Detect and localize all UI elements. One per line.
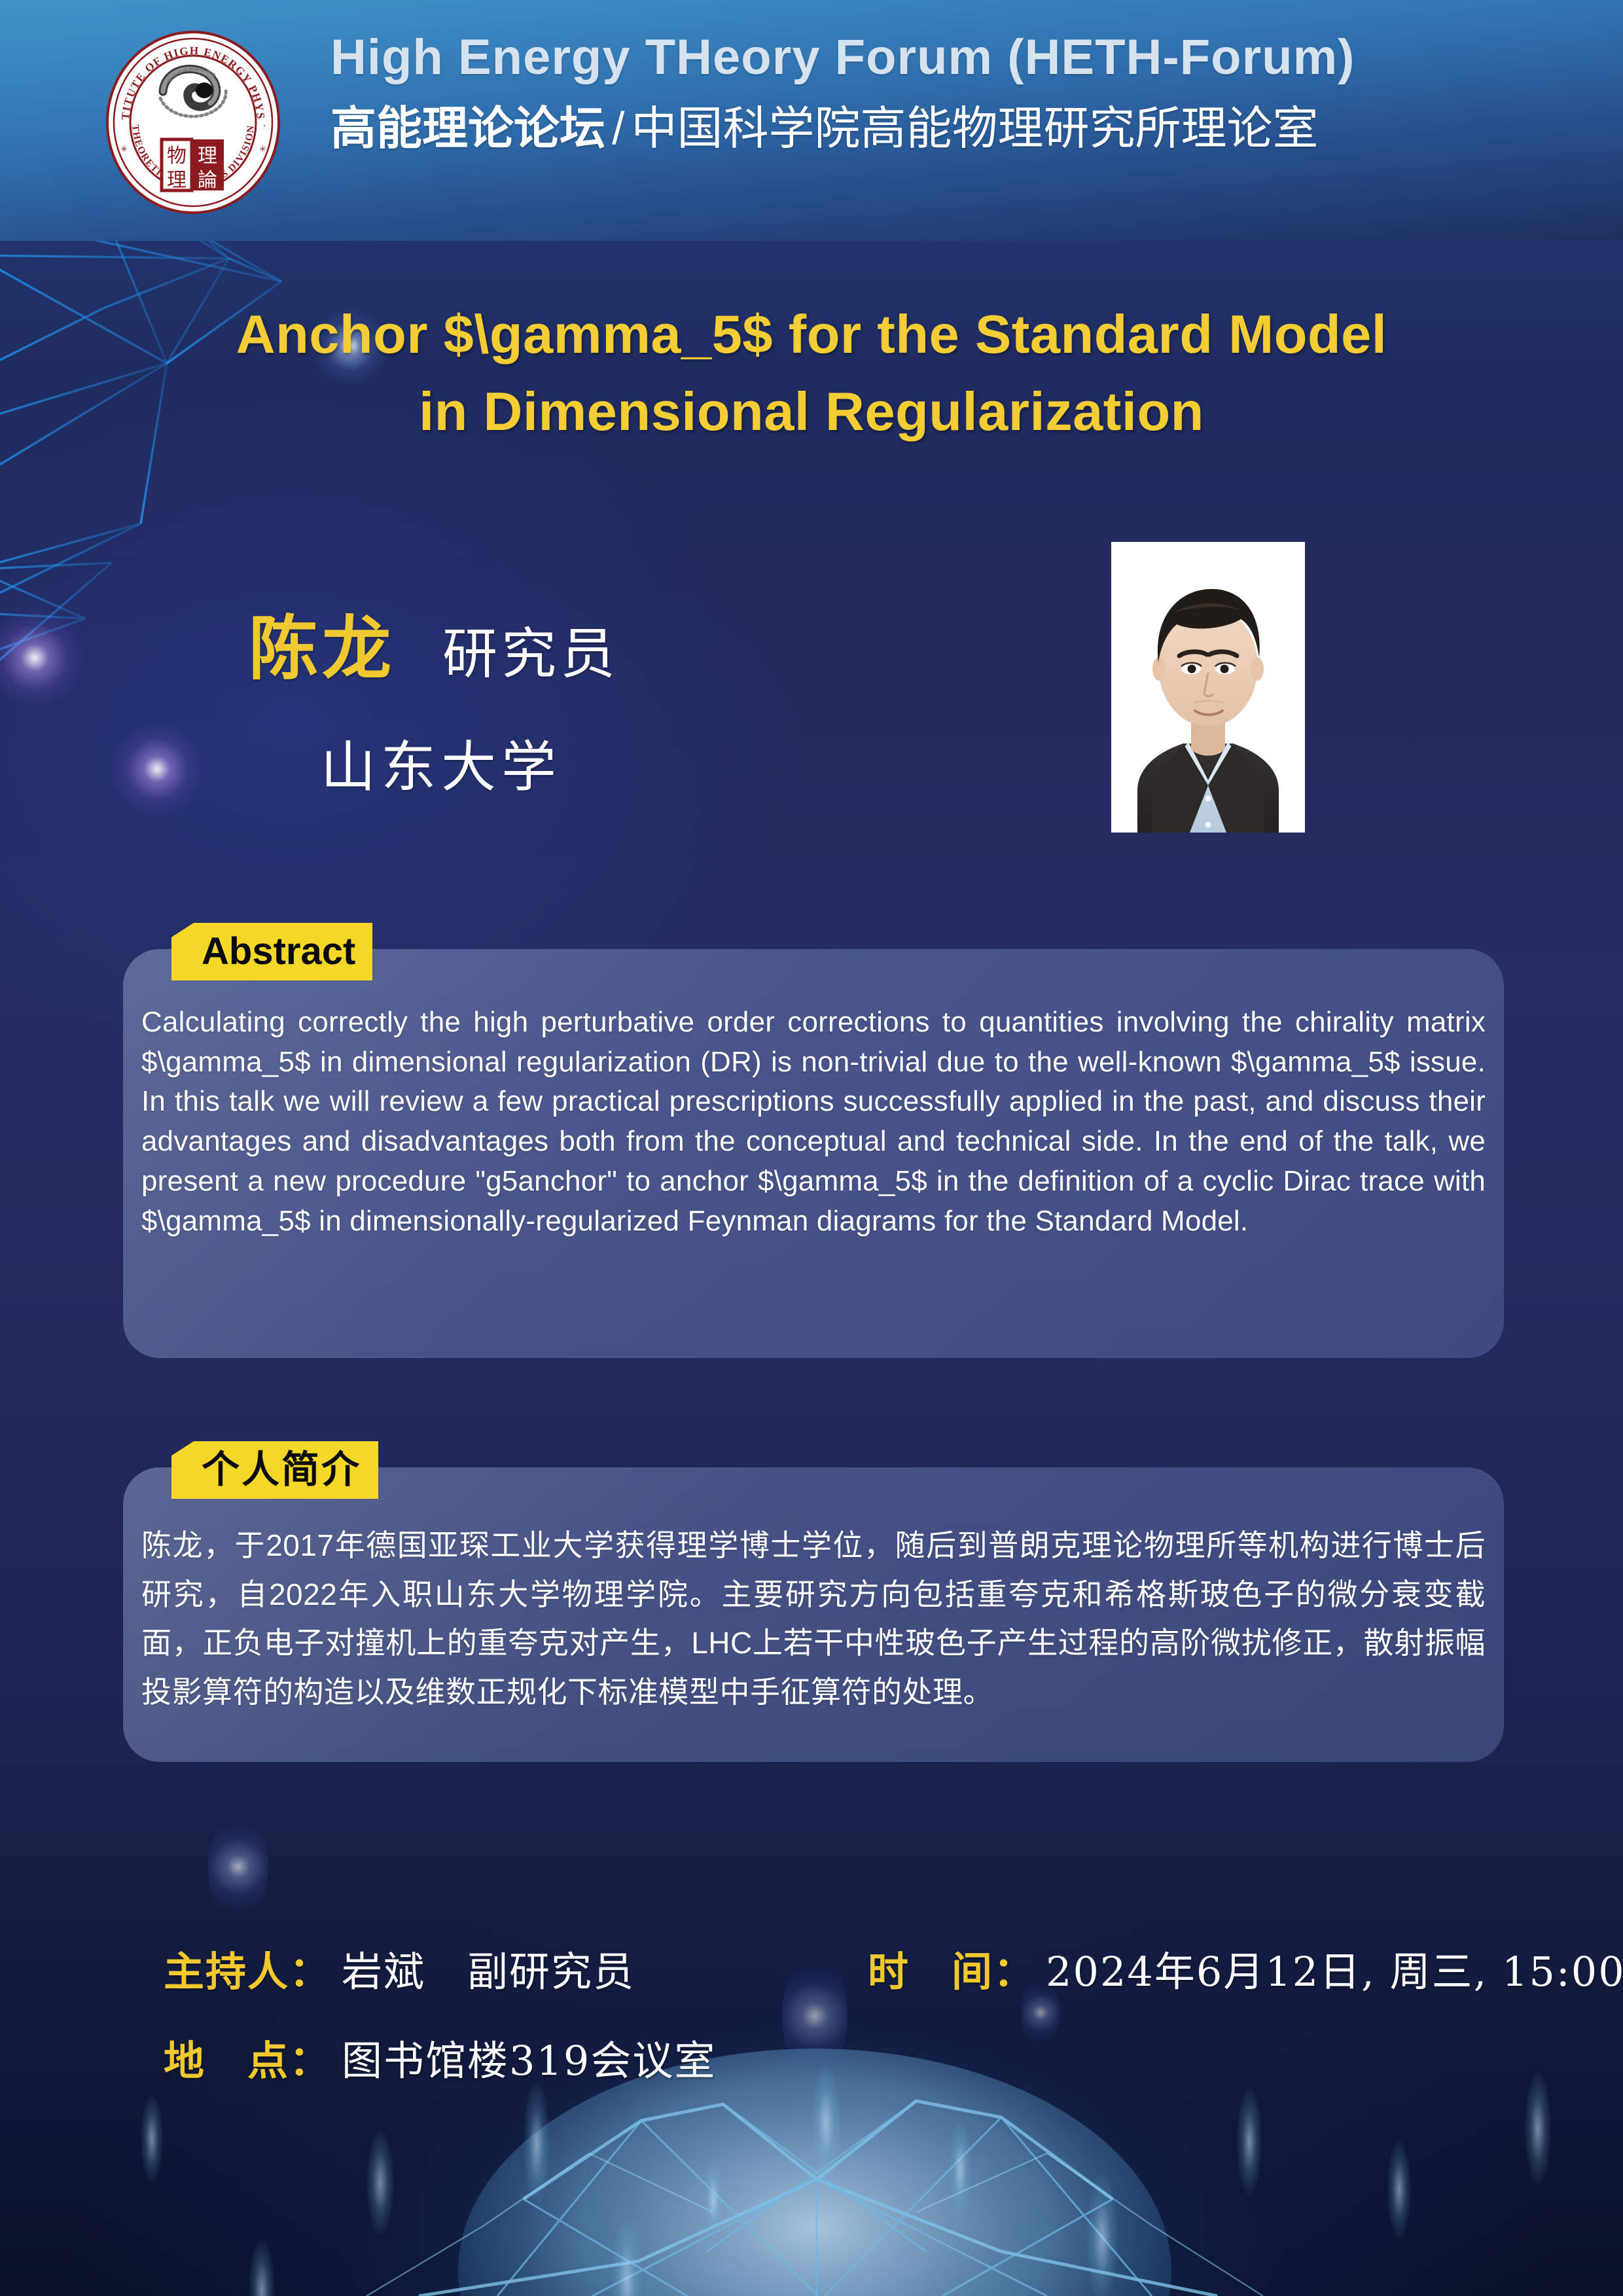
logo-svg: INSTITUTE OF HIGH ENERGY PHYSICS THEORET…: [105, 30, 281, 215]
glow-node: [0, 609, 84, 707]
speaker-name-row: 陈龙 研究员: [249, 592, 1034, 693]
host-value: 岩斌 副研究员: [342, 1939, 635, 1998]
portrait-svg: [1111, 542, 1305, 833]
header-banner: INSTITUTE OF HIGH ENERGY PHYSICS THEORET…: [0, 0, 1623, 241]
forum-title-chinese-sub: 中国科学院高能物理研究所理论室: [631, 103, 1318, 154]
light-streak: [249, 2238, 275, 2296]
bio-section-tag: 个人简介: [171, 1441, 378, 1499]
time-value: 2024年6月12日, 周三, 15:00: [1046, 1939, 1623, 1998]
talk-title-line-2: in Dimensional Regularization: [0, 373, 1623, 450]
place-row: 地 点： 图书馆楼319会议室: [164, 2028, 1538, 2087]
forum-title-chinese-main: 高能理论论坛: [330, 103, 605, 154]
speaker-rank: 研究员: [442, 610, 619, 689]
light-streak: [141, 2094, 163, 2183]
glow-node: [208, 1812, 268, 1922]
talk-title: Anchor $\gamma_5$ for the Standard Model…: [0, 296, 1623, 450]
seminar-poster: INSTITUTE OF HIGH ENERGY PHYSICS THEORET…: [0, 0, 1623, 2296]
light-streak: [612, 2219, 642, 2296]
glow-node: [111, 723, 203, 815]
light-streak: [704, 2160, 723, 2238]
light-streak: [1387, 2140, 1411, 2238]
svg-text:·: ·: [263, 121, 266, 130]
svg-text:理: 理: [198, 145, 217, 168]
svg-text:✳: ✳: [120, 144, 128, 154]
time-group: 时 间： 2024年6月12日, 周三, 15:00: [868, 1939, 1623, 1998]
speaker-name: 陈龙: [249, 592, 395, 693]
host-and-time-row: 主持人： 岩斌 副研究员 时 间： 2024年6月12日, 周三, 15:00: [164, 1939, 1538, 1998]
light-streak: [366, 2130, 394, 2235]
ihep-theoretical-physics-logo: INSTITUTE OF HIGH ENERGY PHYSICS THEORET…: [105, 30, 281, 215]
bio-body: 陈龙，于2017年德国亚琛工业大学获得理学博士学位，随后到普朗克理论物理所等机构…: [141, 1521, 1486, 1716]
bio-panel: 陈龙，于2017年德国亚琛工业大学获得理学博士学位，随后到普朗克理论物理所等机构…: [123, 1467, 1504, 1762]
host-label: 主持人：: [164, 1939, 331, 1998]
svg-text:理: 理: [167, 169, 187, 192]
svg-text:✳: ✳: [259, 144, 266, 154]
abstract-section-tag: Abstract: [171, 923, 372, 980]
abstract-panel: Calculating correctly the high perturbat…: [123, 949, 1504, 1358]
forum-title-separator: /: [605, 103, 631, 154]
place-value: 图书馆楼319会议室: [342, 2028, 716, 2087]
header-title-group: High Energy THeory Forum (HETH-Forum) 高能…: [330, 29, 1574, 156]
forum-title-english: High Energy THeory Forum (HETH-Forum): [330, 29, 1574, 86]
speaker-affiliation: 山东大学: [321, 723, 1034, 802]
light-streak: [1086, 2173, 1118, 2296]
svg-text:論: 論: [198, 169, 217, 192]
abstract-body: Calculating correctly the high perturbat…: [141, 1003, 1486, 1241]
event-details: 主持人： 岩斌 副研究员 时 间： 2024年6月12日, 周三, 15:00 …: [164, 1939, 1538, 2117]
forum-title-chinese: 高能理论论坛/中国科学院高能物理研究所理论室: [330, 101, 1574, 156]
speaker-info: 陈龙 研究员 山东大学: [249, 592, 1034, 802]
speaker-portrait: [1111, 542, 1305, 833]
place-label: 地 点：: [164, 2028, 331, 2087]
svg-text:物: 物: [167, 145, 187, 168]
light-streak: [949, 2121, 971, 2219]
time-label: 时 间：: [868, 1939, 1035, 1998]
talk-title-line-1: Anchor $\gamma_5$ for the Standard Model: [0, 296, 1623, 373]
